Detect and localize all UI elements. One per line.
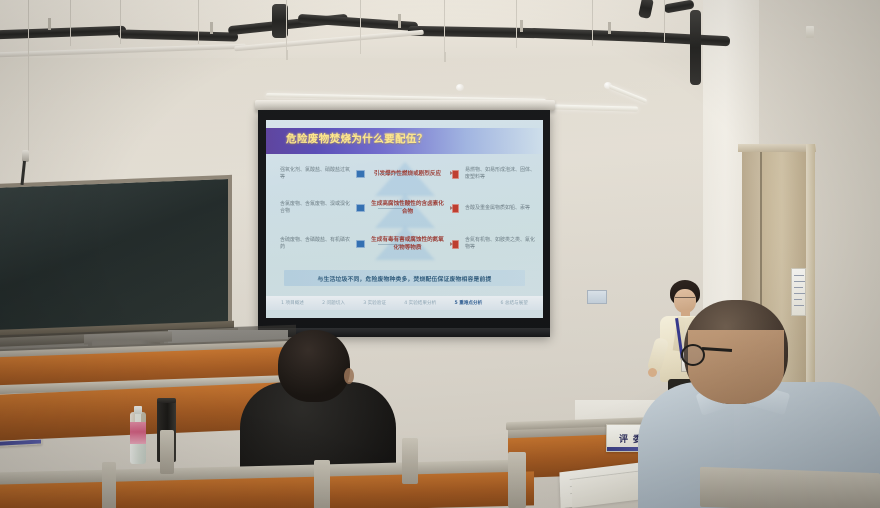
bench-divider: [314, 460, 330, 508]
slide-row: 含硫废物、含磷酸盐、有机磷农药 生成有毒有害或腐蚀性的氮氧化物等物质 含氮有机物…: [266, 228, 543, 260]
arrow-head-icon: [450, 206, 453, 210]
slide-row-right-icon-wrap: [445, 170, 465, 179]
slide-nav-item-1[interactable]: 1 项目概述: [281, 300, 304, 306]
suspension-wires: [286, 0, 287, 50]
slide-section-nav: 1 项目概述 2 问题切入 3 实验验证 4 实验结果分析 5 重难点分析 6 …: [266, 296, 543, 310]
slide-row-right-text: 含酸及重金属物质如铅、汞等: [465, 205, 543, 212]
bottle-label: [130, 422, 146, 444]
slide-row-center-text: 引发爆炸性燃烧或剧烈反应: [370, 170, 445, 178]
audience-member-neck-skin: [688, 330, 784, 404]
slide-nav-item-3[interactable]: 3 实验验证: [363, 300, 386, 306]
projected-slide: 危险废物焚烧为什么要配伍？ 强氧化剂、氯酸盐、硝酸盐过氧等 引发爆炸性燃烧或剧烈…: [266, 120, 543, 318]
classroom-presentation-photo: 危险废物焚烧为什么要配伍？ 强氧化剂、氯酸盐、硝酸盐过氧等 引发爆炸性燃烧或剧烈…: [0, 0, 880, 508]
slide-row-right-icon-wrap: [445, 204, 465, 213]
blue-document-icon: [356, 240, 365, 248]
pipe-hanger: [608, 22, 611, 34]
wall-outlet[interactable]: [806, 26, 814, 38]
suspension-wires: [198, 0, 199, 44]
slide-row: 含氯废物、含氟废物、溴或溴化合物 生成高腐蚀性酸性的含卤素化合物 含酸及重金属物…: [266, 192, 543, 224]
black-ceiling-pipes: [690, 10, 701, 85]
slide-row-left-text: 强氧化剂、氯酸盐、硝酸盐过氧等: [266, 167, 350, 181]
connector-line: [378, 244, 402, 245]
bottle-cap: [134, 406, 142, 414]
slide-row-left-text: 含硫废物、含磷酸盐、有机磷农药: [266, 237, 350, 251]
wall-sign: [587, 290, 607, 304]
arrow-head-icon: [450, 242, 453, 246]
pipe-hanger: [210, 22, 213, 34]
light-cap: [456, 84, 464, 91]
slide-row: 强氧化剂、氯酸盐、硝酸盐过氧等 引发爆炸性燃烧或剧烈反应 易燃物、如易形成泡沫、…: [266, 158, 543, 190]
suspension-wires: [592, 0, 593, 46]
connector-line: [378, 208, 402, 209]
bench-divider: [508, 452, 526, 508]
pipe-hanger: [48, 18, 51, 30]
pipe-hanger: [398, 14, 401, 28]
suspension-wires: [516, 0, 517, 48]
suspension-wires: [28, 52, 29, 152]
suspension-wires: [120, 0, 121, 44]
blue-tag-icon: [356, 204, 365, 212]
slide-nav-item-4[interactable]: 4 实验结果分析: [404, 300, 436, 306]
light-stem: [444, 52, 446, 62]
audience-member-head: [278, 330, 350, 402]
suspension-wires: [70, 0, 71, 46]
slide-row-right-icon-wrap: [445, 240, 465, 249]
pipe-hanger: [520, 20, 523, 32]
slide-title: 危险废物焚烧为什么要配伍？: [286, 131, 516, 146]
thermos-lid[interactable]: [157, 398, 176, 403]
connector-line: [378, 173, 402, 174]
slide-row-left-icon-wrap: [350, 240, 370, 248]
blue-document-icon: [356, 170, 365, 178]
suspension-wires: [360, 0, 361, 54]
slide-nav-item-2[interactable]: 2 问题切入: [322, 300, 345, 306]
slide-nav-item-6[interactable]: 6 总结与展望: [500, 300, 527, 306]
bench-divider: [102, 462, 116, 508]
light-stem: [286, 50, 288, 60]
seat-back-left-2: [402, 438, 418, 484]
seat-back-left: [160, 430, 174, 474]
door-frame-top: [738, 144, 816, 152]
slide-row-left-icon-wrap: [350, 204, 370, 212]
suspension-wires: [444, 0, 445, 52]
slide-row-right-text: 含氮有机物、如胺类之类、氰化物等: [465, 237, 543, 251]
slide-row-left-text: 含氯废物、含氟废物、溴或溴化合物: [266, 201, 350, 215]
slide-nav-item-5[interactable]: 5 重难点分析: [454, 300, 482, 306]
plastic-water-bottle[interactable]: [130, 398, 146, 464]
audience-member-ear: [344, 368, 354, 384]
seat-back-right: [700, 467, 880, 508]
slide-summary-banner: 与生活垃圾不同，危险废物种类多，焚烧配伍保证废物相容是前提: [284, 270, 525, 286]
slide-row-left-icon-wrap: [350, 170, 370, 178]
blackboard: [0, 175, 232, 338]
suspension-wires: [664, 0, 665, 42]
arrow-head-icon: [450, 171, 453, 175]
slide-row-right-text: 易燃物、如易形成泡沫、固体、废塑料等: [465, 167, 543, 181]
suspension-wires: [28, 0, 29, 52]
